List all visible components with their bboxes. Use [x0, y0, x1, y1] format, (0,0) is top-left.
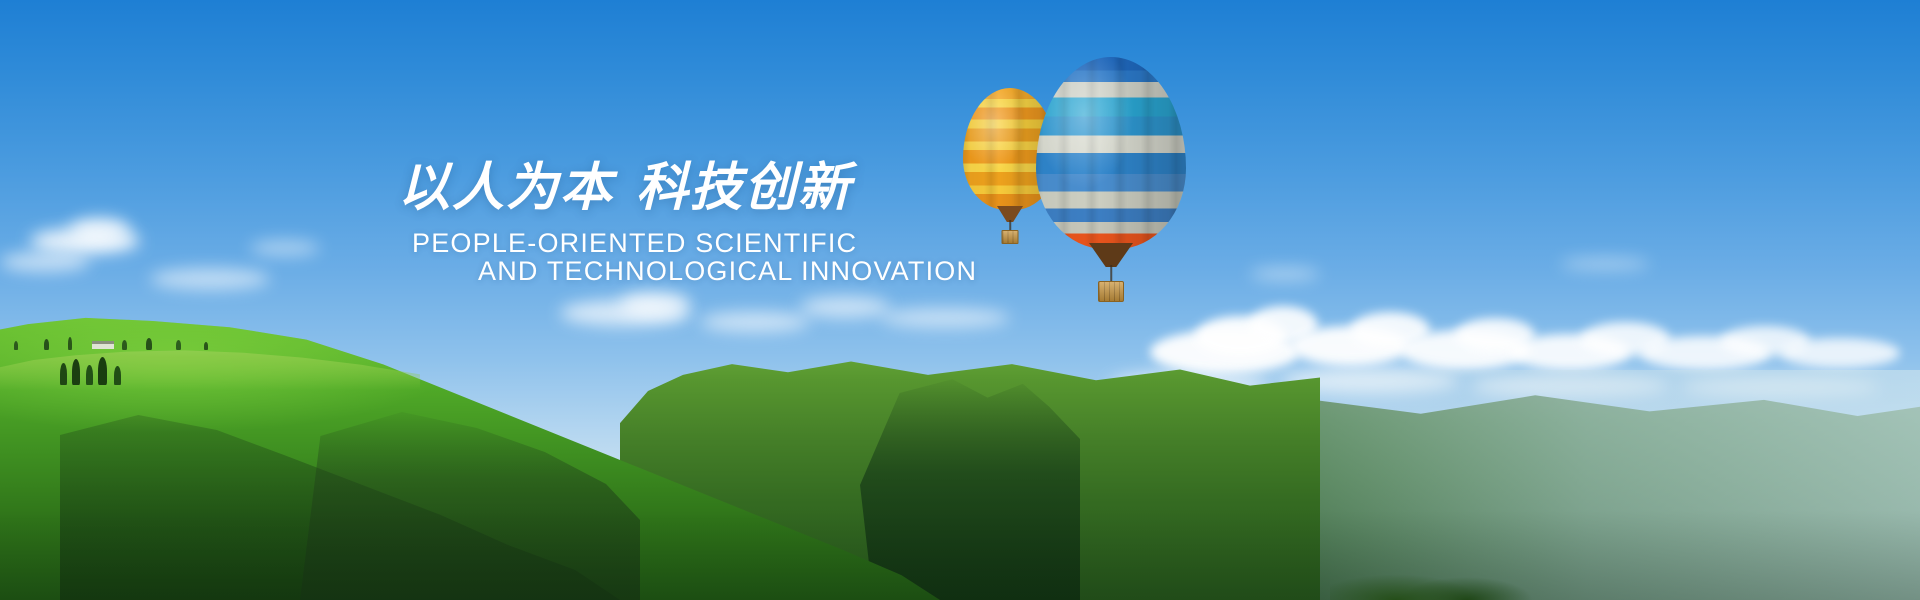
landscape-shadow	[0, 510, 1920, 600]
hero-banner: 以人为本科技创新 PEOPLE-ORIENTED SCIENTIFIC AND …	[0, 0, 1920, 600]
headline-part-2: 科技创新	[636, 158, 852, 218]
mountain-landscape	[0, 270, 1920, 600]
balloon-orange-basket	[1002, 230, 1019, 244]
headline-part-1: 以人为本	[398, 158, 614, 218]
hot-air-balloon-blue	[1036, 57, 1186, 289]
page-title: 以人为本科技创新	[398, 145, 852, 220]
crest-vegetation	[0, 326, 300, 352]
subtitle-line-1: PEOPLE-ORIENTED SCIENTIFIC	[412, 228, 857, 259]
subtitle-line-2: AND TECHNOLOGICAL INNOVATION	[478, 256, 977, 287]
conifer-cluster	[60, 351, 180, 385]
balloon-blue-skirt	[1089, 243, 1133, 267]
